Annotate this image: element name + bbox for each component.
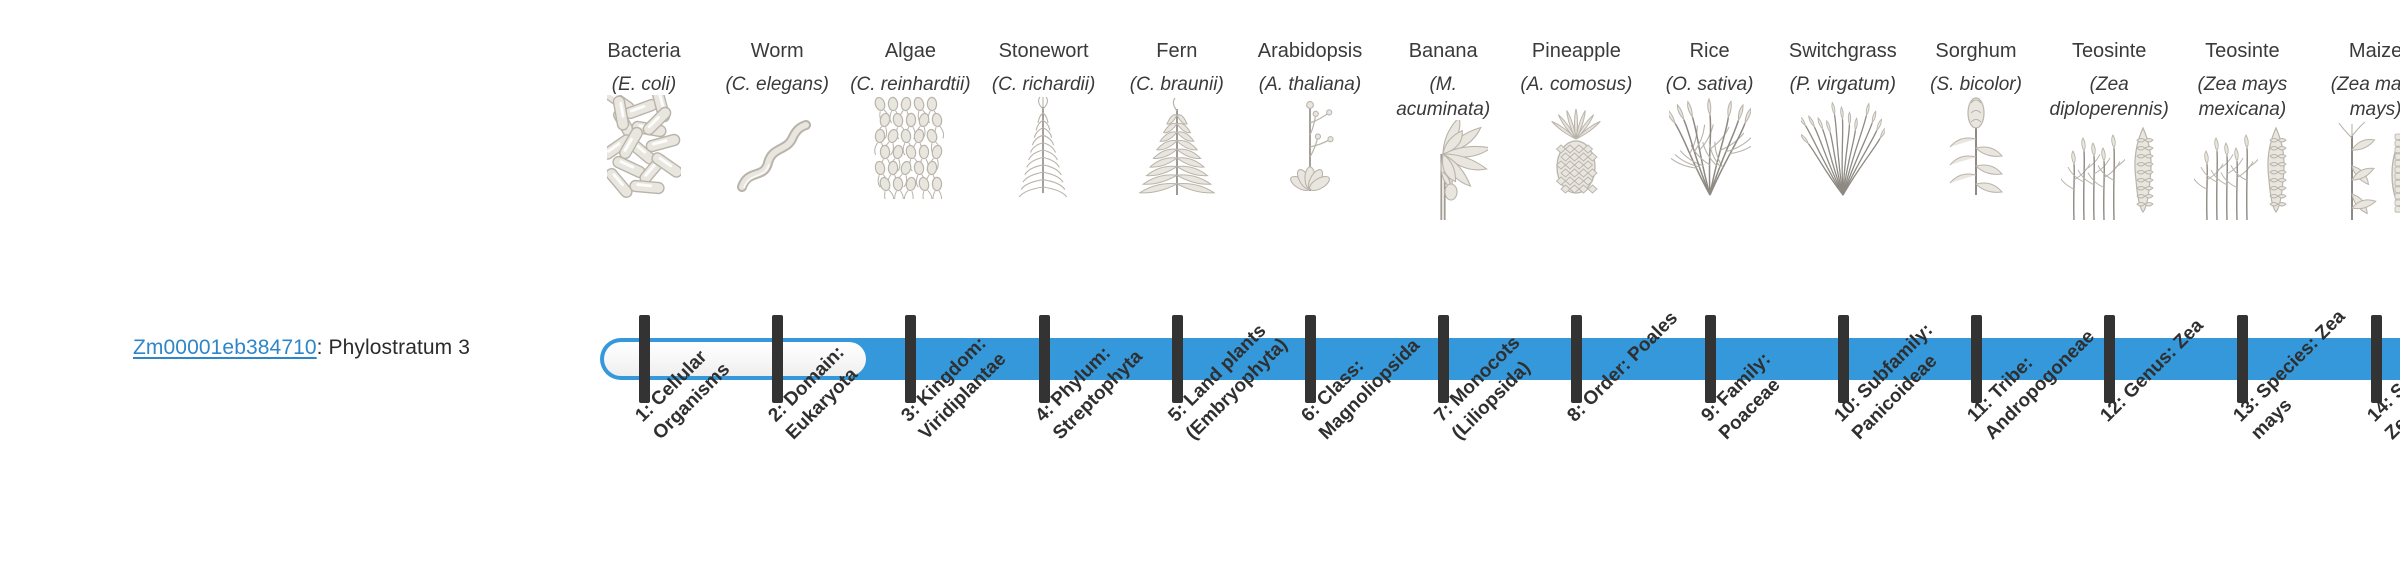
stratum-tick-14[interactable] — [2371, 315, 2382, 403]
species-latin-name: (C. braunii) — [1114, 72, 1240, 97]
stratum-tick-9[interactable] — [1705, 315, 1716, 403]
species-latin-name: (O. sativa) — [1647, 72, 1773, 97]
species-column-4: Stonewort (C. richardii) — [981, 38, 1107, 199]
species-common-name: Banana — [1380, 38, 1506, 64]
stratum-tick-4[interactable] — [1039, 315, 1050, 403]
stratum-number: 12: — [2097, 392, 2131, 426]
species-common-name: Sorghum — [1913, 38, 2039, 64]
species-column-13: Teosinte (Zea mays mexicana) — [2179, 38, 2305, 224]
teosinte-diplo-icon — [2046, 128, 2172, 224]
fern-icon — [1114, 103, 1240, 199]
stratum-tick-10[interactable] — [1838, 315, 1849, 403]
species-column-12: Teosinte (Zea diploperennis) — [2046, 38, 2172, 224]
banana-icon — [1380, 128, 1506, 224]
species-common-name: Switchgrass — [1780, 38, 1906, 64]
switchgrass-icon — [1780, 103, 1906, 199]
sorghum-icon — [1913, 103, 2039, 199]
species-latin-name: (C. richardii) — [981, 72, 1107, 97]
gene-id-link[interactable]: Zm00001eb384710 — [133, 336, 317, 359]
species-column-10: Switchgrass (P. virgatum) — [1780, 38, 1906, 199]
species-common-name: Rice — [1647, 38, 1773, 64]
rice-icon — [1647, 103, 1773, 199]
species-common-name: Maize — [2313, 38, 2400, 64]
species-latin-name: (Zea mays mexicana) — [2179, 72, 2305, 122]
species-latin-name: (P. virgatum) — [1780, 72, 1906, 97]
species-latin-name: (E. coli) — [581, 72, 707, 97]
gene-phylostratum-label: Zm00001eb384710: Phylostratum 3 — [0, 336, 470, 360]
species-common-name: Teosinte — [2046, 38, 2172, 64]
species-common-name: Pineapple — [1513, 38, 1639, 64]
bacteria-icon — [581, 103, 707, 199]
species-latin-name: (Zea mays mays) — [2313, 72, 2400, 122]
species-column-11: Sorghum (S. bicolor) — [1913, 38, 2039, 199]
pineapple-icon — [1513, 103, 1639, 199]
species-column-14: Maize (Zea mays mays) — [2313, 38, 2400, 224]
teosinte-mex-icon — [2179, 128, 2305, 224]
species-common-name: Worm — [714, 38, 840, 64]
species-column-1: Bacteria (E. coli) — [581, 38, 707, 199]
arabidopsis-icon — [1247, 103, 1373, 199]
algae-icon — [847, 103, 973, 199]
species-column-9: Rice (O. sativa) — [1647, 38, 1773, 199]
species-common-name: Stonewort — [981, 38, 1107, 64]
species-latin-name: (C. reinhardtii) — [847, 72, 973, 97]
species-latin-name: (Zea diploperennis) — [2046, 72, 2172, 122]
species-column-8: Pineapple (A. comosus) — [1513, 38, 1639, 199]
species-column-3: Algae (C. reinhardtii) — [847, 38, 973, 199]
species-column-5: Fern (C. braunii) — [1114, 38, 1240, 199]
species-common-name: Algae — [847, 38, 973, 64]
stonewort-icon — [981, 103, 1107, 199]
species-latin-name: (A. comosus) — [1513, 72, 1639, 97]
species-common-name: Fern — [1114, 38, 1240, 64]
species-common-name: Bacteria — [581, 38, 707, 64]
species-column-2: Worm (C. elegans) — [714, 38, 840, 199]
phylostratum-figure: Zm00001eb384710: Phylostratum 3 Bacteria… — [0, 0, 2400, 580]
gene-label-separator: : — [317, 336, 329, 359]
worm-icon — [714, 103, 840, 199]
phylostratum-value-text: Phylostratum 3 — [329, 336, 470, 359]
species-common-name: Teosinte — [2179, 38, 2305, 64]
maize-icon — [2313, 128, 2400, 224]
species-latin-name: (S. bicolor) — [1913, 72, 2039, 97]
species-column-7: Banana (M. acuminata) — [1380, 38, 1506, 224]
stratum-tick-5[interactable] — [1172, 315, 1183, 403]
species-latin-name: (C. elegans) — [714, 72, 840, 97]
species-latin-name: (A. thaliana) — [1247, 72, 1373, 97]
species-latin-name: (M. acuminata) — [1380, 72, 1506, 122]
species-column-6: Arabidopsis (A. thaliana) — [1247, 38, 1373, 199]
species-common-name: Arabidopsis — [1247, 38, 1373, 64]
